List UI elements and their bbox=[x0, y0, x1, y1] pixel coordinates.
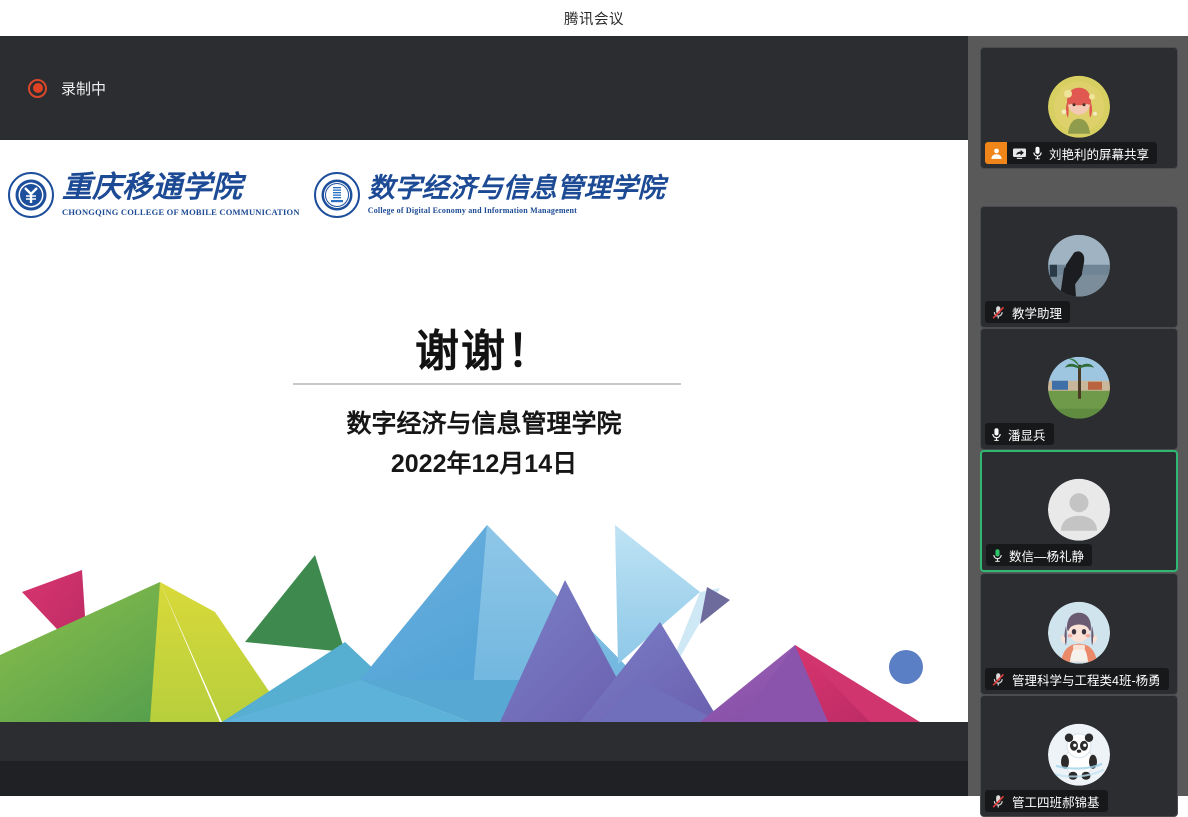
microphone-on-icon bbox=[1032, 146, 1043, 160]
slide-title: 谢谢！ bbox=[0, 315, 968, 379]
host-person-icon bbox=[985, 142, 1007, 164]
microphone-muted-icon bbox=[991, 672, 1006, 687]
university-seal-icon bbox=[8, 172, 54, 218]
participant-name-1: 教学助理 bbox=[1012, 303, 1062, 322]
microphone-muted-icon bbox=[991, 305, 1006, 320]
recording-bar: 录制中 bbox=[0, 36, 968, 140]
girl-illustration-avatar bbox=[1048, 76, 1110, 138]
participant-tile-4[interactable]: 管理科学与工程类4班-杨勇 bbox=[980, 573, 1178, 695]
participant-name-2: 潘显兵 bbox=[1008, 425, 1046, 444]
participant-label-5: 管工四班郝锦基 bbox=[985, 790, 1108, 812]
microphone-on-icon bbox=[991, 427, 1002, 442]
record-dot-icon bbox=[28, 79, 47, 98]
participant-label-4: 管理科学与工程类4班-杨勇 bbox=[985, 668, 1169, 690]
participant-label-1: 教学助理 bbox=[985, 301, 1070, 323]
logo-college: 数字经济与信息管理学院 College of Digital Economy a… bbox=[314, 172, 665, 218]
participant-label-2: 潘显兵 bbox=[985, 423, 1054, 445]
participant-tile-2[interactable]: 潘显兵 bbox=[980, 328, 1178, 450]
slide-subtitle: 数字经济与信息管理学院 bbox=[0, 408, 968, 442]
photo-palm-tree-avatar bbox=[1048, 357, 1110, 419]
photo-silhouette-avatar bbox=[1048, 235, 1110, 297]
participant-tile-3[interactable]: 数信—杨礼静 bbox=[980, 450, 1178, 572]
window-title-bar: 腾讯会议 bbox=[0, 0, 1188, 36]
college-name-en: College of Digital Economy and Informati… bbox=[368, 206, 665, 215]
default-person-avatar bbox=[1048, 479, 1110, 541]
participant-tile-0[interactable]: 刘艳利的屏幕共享 bbox=[980, 47, 1178, 169]
slide-divider bbox=[293, 383, 681, 385]
participant-name-0: 刘艳利的屏幕共享 bbox=[1049, 144, 1149, 163]
microphone-on-icon bbox=[992, 548, 1003, 563]
participant-tile-5[interactable]: 管工四班郝锦基 bbox=[980, 695, 1178, 817]
participant-name-5: 管工四班郝锦基 bbox=[1012, 792, 1100, 811]
participant-name-3: 数信—杨礼静 bbox=[1009, 546, 1084, 565]
low-poly-mountains-graphic bbox=[0, 492, 968, 722]
college-name-cn: 数字经济与信息管理学院 bbox=[368, 175, 665, 202]
shared-screen-stage[interactable]: 录制中 重庆移通学院 bbox=[0, 36, 968, 761]
slide-logos: 重庆移通学院 CHONGQING COLLEGE OF MOBILE COMMU… bbox=[8, 172, 665, 218]
decorative-circle bbox=[889, 650, 923, 684]
participant-label-3: 数信—杨礼静 bbox=[986, 544, 1092, 566]
presentation-slide: 重庆移通学院 CHONGQING COLLEGE OF MOBILE COMMU… bbox=[0, 140, 968, 722]
participant-name-4: 管理科学与工程类4班-杨勇 bbox=[1012, 670, 1161, 689]
university-name-cn: 重庆移通学院 bbox=[62, 173, 300, 203]
app-title: 腾讯会议 bbox=[564, 8, 624, 29]
participant-sidebar[interactable]: 刘艳利的屏幕共享 bbox=[968, 36, 1188, 796]
slide-date: 2022年12月14日 bbox=[0, 444, 968, 480]
participant-label-0: 刘艳利的屏幕共享 bbox=[985, 142, 1157, 164]
meeting-body: 录制中 重庆移通学院 bbox=[0, 36, 1188, 796]
university-name-en: CHONGQING COLLEGE OF MOBILE COMMUNICATIO… bbox=[62, 207, 300, 217]
college-seal-icon bbox=[314, 172, 360, 218]
recording-label: 录制中 bbox=[61, 78, 106, 99]
panda-mascot-avatar bbox=[1048, 724, 1110, 786]
screen-share-icon bbox=[1012, 147, 1027, 160]
participant-tile-1[interactable]: 教学助理 bbox=[980, 206, 1178, 328]
anime-girl-avatar bbox=[1048, 602, 1110, 664]
logo-university: 重庆移通学院 CHONGQING COLLEGE OF MOBILE COMMU… bbox=[8, 172, 300, 218]
